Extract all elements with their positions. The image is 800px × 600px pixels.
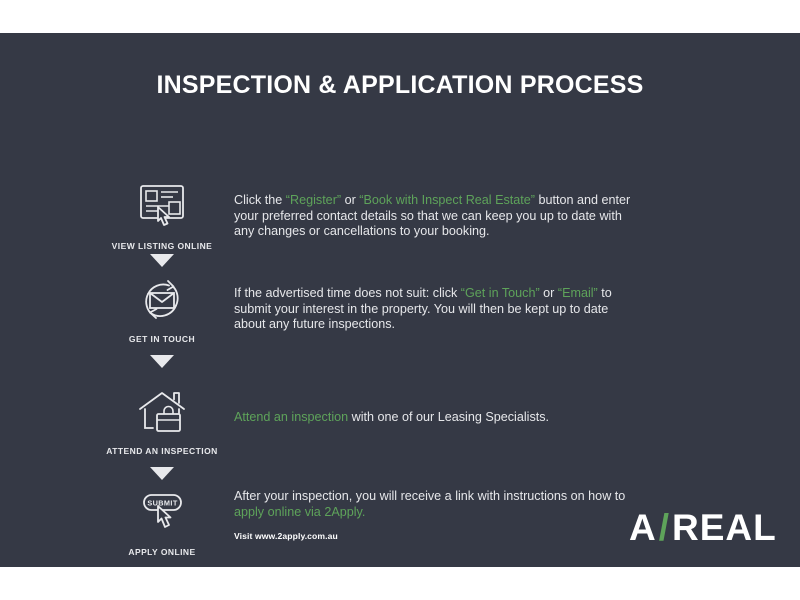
listing-webpage-cursor-icon <box>88 179 236 235</box>
step-description-3: Attend an inspection with one of our Lea… <box>234 410 642 426</box>
step-attend-an-inspection: ATTEND AN INSPECTION <box>88 384 236 456</box>
logo-text-left: A <box>629 507 657 549</box>
step-apply-online: SUBMIT APPLY ONLINE <box>88 485 236 557</box>
step-description-2: If the advertised time does not suit: cl… <box>234 286 642 333</box>
step-label: ATTEND AN INSPECTION <box>88 446 236 456</box>
step-description-1: Click the “Register” or “Book with Inspe… <box>234 193 642 240</box>
step-label: APPLY ONLINE <box>88 547 236 557</box>
logo-text-right: REAL <box>672 507 777 549</box>
connector-arrow-2 <box>150 355 174 368</box>
connector-arrow-3 <box>150 467 174 480</box>
submit-button-cursor-icon: SUBMIT <box>88 485 236 541</box>
brand-logo: A / REAL <box>629 507 777 549</box>
house-briefcase-icon <box>88 384 236 440</box>
step-label: GET IN TOUCH <box>88 334 236 344</box>
step-label: VIEW LISTING ONLINE <box>88 241 236 251</box>
envelope-refresh-icon <box>88 272 236 328</box>
logo-slash-icon: / <box>659 507 670 549</box>
step-get-in-touch: GET IN TOUCH <box>88 272 236 344</box>
poster-panel: INSPECTION & APPLICATION PROCESS VIEW LI… <box>0 33 800 567</box>
connector-arrow-1 <box>150 254 174 267</box>
svg-text:SUBMIT: SUBMIT <box>147 498 178 507</box>
visit-url-note: Visit www.2apply.com.au <box>234 531 338 541</box>
step-view-listing-online: VIEW LISTING ONLINE <box>88 179 236 251</box>
step-description-4: After your inspection, you will receive … <box>234 489 642 520</box>
page-title: INSPECTION & APPLICATION PROCESS <box>0 71 800 100</box>
